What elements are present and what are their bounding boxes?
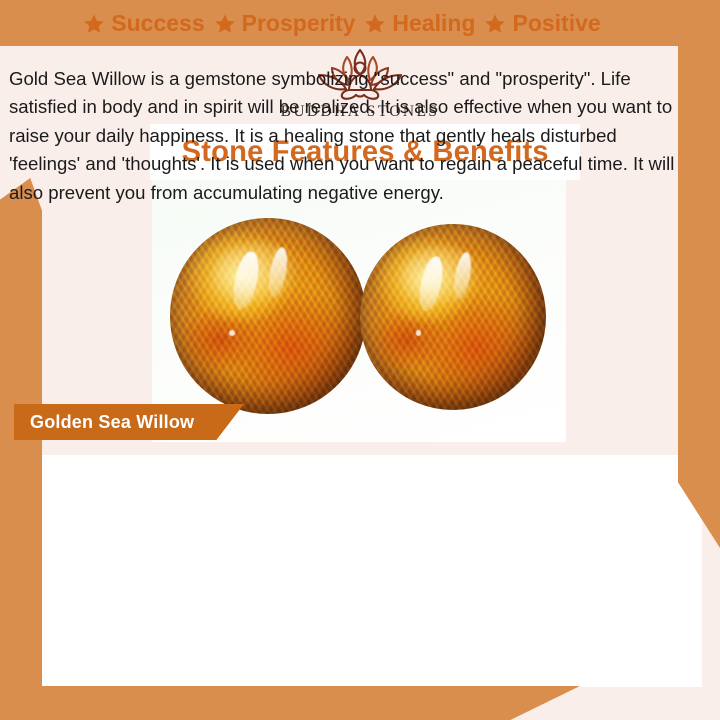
benefit-label: Healing [392, 10, 475, 37]
benefit-item-success: Success [83, 10, 204, 37]
sphere-speckle [416, 330, 422, 336]
benefit-label: Positive [512, 10, 600, 37]
benefit-item-healing: Healing [364, 10, 475, 37]
star-icon [214, 13, 236, 35]
star-icon [364, 13, 386, 35]
benefit-item-positive: Positive [484, 10, 600, 37]
product-name-banner: Golden Sea Willow [14, 404, 244, 440]
benefit-item-prosperity: Prosperity [214, 10, 356, 37]
sphere-glow [213, 242, 303, 309]
description-text: Gold Sea Willow is a gemstone symbolizin… [9, 65, 681, 208]
star-icon [83, 13, 105, 35]
infographic-page: BUDDHA STONES Stone Features & Benefits … [0, 0, 720, 720]
benefits-row: Success Prosperity Healing [0, 10, 684, 37]
sphere-speckle [229, 330, 235, 336]
gemstone-sphere-right [360, 224, 546, 410]
product-photo [152, 180, 566, 442]
product-name-label: Golden Sea Willow [30, 412, 194, 433]
benefit-label: Prosperity [242, 10, 356, 37]
benefit-label: Success [111, 10, 204, 37]
frame-left-bar [0, 178, 42, 720]
sphere-glow [401, 246, 487, 309]
description-panel [18, 455, 702, 687]
gemstone-sphere-left [170, 218, 366, 414]
frame-bottom-bar [0, 686, 580, 720]
star-icon [484, 13, 506, 35]
